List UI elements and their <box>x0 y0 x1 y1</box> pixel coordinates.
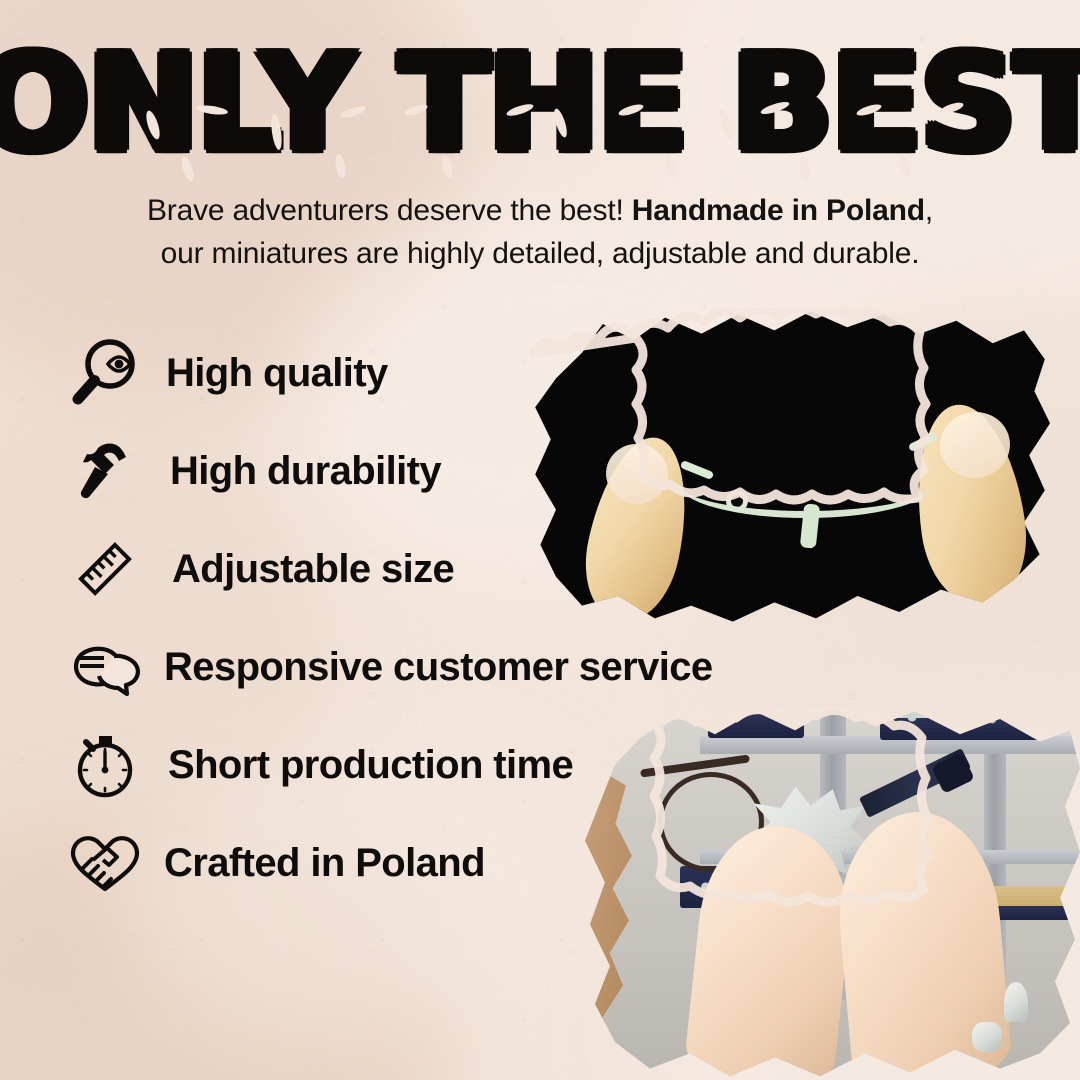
hammer-icon <box>62 428 148 514</box>
feature-label: High durability <box>170 449 441 494</box>
stopwatch-icon <box>62 722 148 808</box>
photo-content <box>530 308 1050 628</box>
feature-label: Adjustable size <box>172 547 454 592</box>
subtitle-line-1: Brave adventurers deserve the best! Hand… <box>147 194 933 227</box>
magnifier-eye-icon <box>62 330 148 416</box>
feature-label: Short production time <box>168 743 573 788</box>
feature-label: High quality <box>166 351 388 396</box>
feature-label: Responsive customer service <box>164 645 713 690</box>
ruler-icon <box>62 526 148 612</box>
page-title: ONLY THE BEST <box>0 44 1080 162</box>
page-title-text: ONLY THE BEST <box>0 36 1080 171</box>
flexible-miniature-photo <box>530 308 1050 628</box>
infographic-canvas: ONLY THE BEST Brave adventurers deserve … <box>0 0 1080 1080</box>
subtitle: Brave adventurers deserve the best! Hand… <box>0 190 1080 275</box>
feature-label: Crafted in Poland <box>164 841 485 886</box>
subtitle-line-2: our miniatures are highly detailed, adju… <box>161 237 920 270</box>
subtitle-highlight: Handmade in Poland <box>632 194 925 227</box>
speech-bubbles-icon <box>62 624 148 710</box>
workshop-painting-photo <box>580 700 1080 1080</box>
photo-content <box>580 700 1080 1080</box>
heart-handshake-icon <box>62 820 148 906</box>
